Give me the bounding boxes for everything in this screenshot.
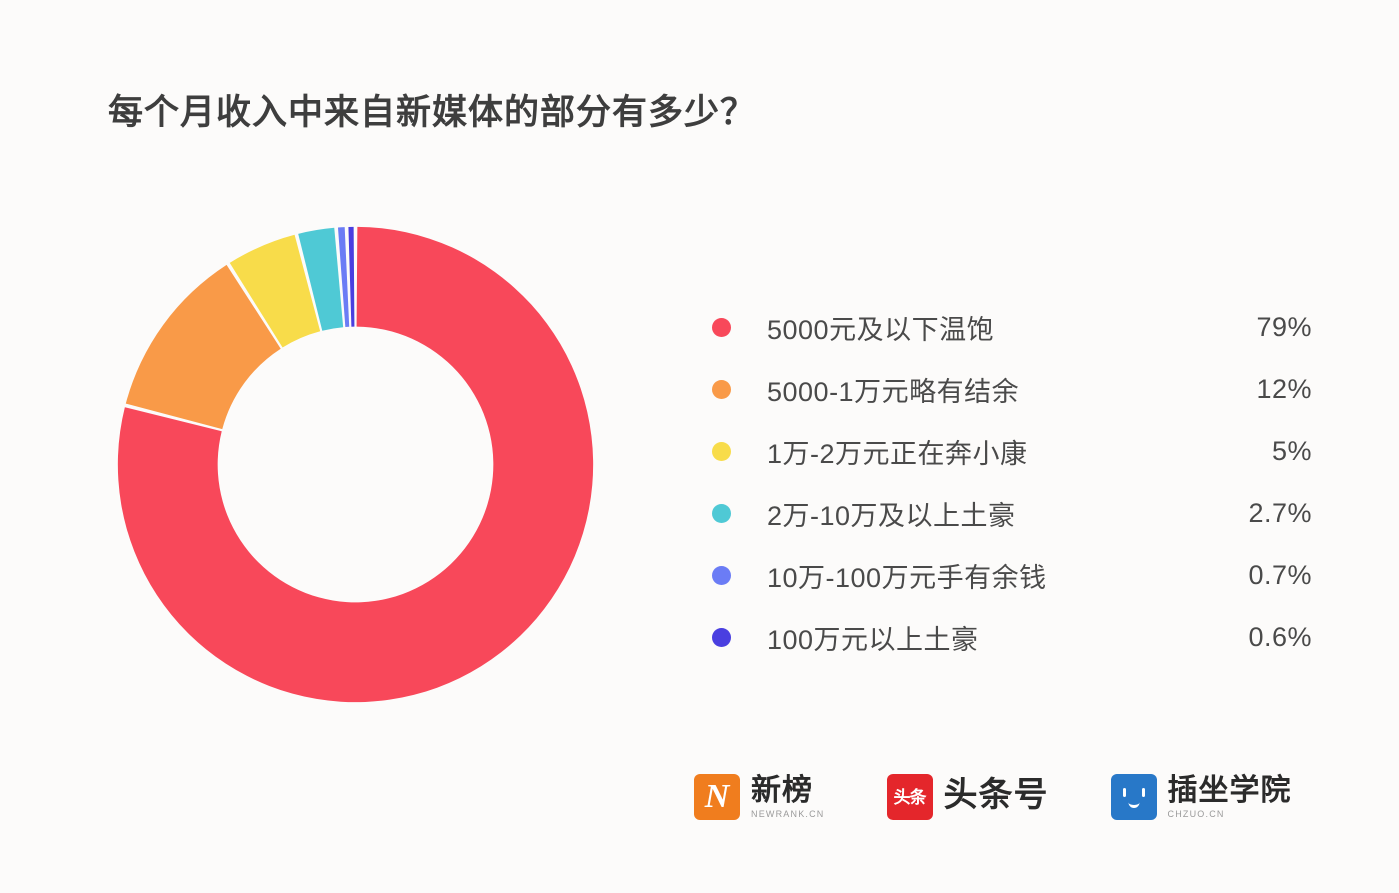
page-title: 每个月收入中来自新媒体的部分有多少？: [108, 84, 756, 135]
logo-subtitle: NEWRANK.CN: [751, 809, 825, 819]
donut-chart: [113, 222, 598, 707]
donut-slice[interactable]: [348, 227, 354, 327]
legend-item-label: 2万-10万及以上土豪: [767, 494, 1194, 533]
legend-swatch-icon: [712, 442, 731, 461]
slide-canvas: 每个月收入中来自新媒体的部分有多少？ 5000元及以下温饱 79% 5000-1…: [0, 0, 1399, 893]
toutiao-mark-icon: 头条: [887, 774, 933, 820]
legend-item-value: 12%: [1194, 374, 1312, 405]
legend-swatch-icon: [712, 628, 731, 647]
toutiaohao-logo-text: 头条号: [944, 778, 1049, 817]
legend-item[interactable]: 10万-100万元手有余钱 0.7%: [712, 544, 1312, 606]
smiley-face-icon: [1119, 786, 1149, 808]
face-eye-right: [1142, 788, 1145, 797]
newrank-mark-icon: N: [694, 774, 740, 820]
legend-item-value: 0.7%: [1194, 560, 1312, 591]
legend-item-label: 1万-2万元正在奔小康: [767, 432, 1194, 471]
legend-item-value: 79%: [1194, 312, 1312, 343]
legend-item[interactable]: 1万-2万元正在奔小康 5%: [712, 420, 1312, 482]
logo-name: 插坐学院: [1168, 775, 1292, 807]
chazuo-mark-icon: [1111, 774, 1157, 820]
chazuo-logo-text: 插坐学院 CHZUO.CN: [1168, 775, 1292, 820]
newrank-glyph: N: [705, 780, 730, 814]
logo-subtitle: CHZUO.CN: [1168, 809, 1292, 819]
logo-name: 新榜: [751, 775, 825, 807]
legend-item-value: 2.7%: [1194, 498, 1312, 529]
face-eye-left: [1123, 788, 1126, 797]
newrank-logo-text: 新榜 NEWRANK.CN: [751, 775, 825, 820]
legend-item-value: 0.6%: [1194, 622, 1312, 653]
logo-toutiaohao[interactable]: 头条 头条号: [887, 774, 1049, 820]
legend-swatch-icon: [712, 318, 731, 337]
legend-item-label: 10万-100万元手有余钱: [767, 556, 1194, 595]
legend-item-label: 5000-1万元略有结余: [767, 370, 1194, 409]
legend-item[interactable]: 5000-1万元略有结余 12%: [712, 358, 1312, 420]
legend-swatch-icon: [712, 504, 731, 523]
logo-name: 头条号: [944, 778, 1049, 814]
legend-swatch-icon: [712, 566, 731, 585]
legend-item[interactable]: 100万元以上土豪 0.6%: [712, 606, 1312, 668]
face-mouth: [1128, 799, 1139, 808]
legend-item-label: 100万元以上土豪: [767, 618, 1194, 657]
donut-chart-svg: [113, 222, 598, 707]
legend-swatch-icon: [712, 380, 731, 399]
chart-legend: 5000元及以下温饱 79% 5000-1万元略有结余 12% 1万-2万元正在…: [712, 296, 1312, 668]
legend-item[interactable]: 5000元及以下温饱 79%: [712, 296, 1312, 358]
logo-chazuo[interactable]: 插坐学院 CHZUO.CN: [1111, 774, 1292, 820]
logo-newrank[interactable]: N 新榜 NEWRANK.CN: [694, 774, 825, 820]
footer-logo-row: N 新榜 NEWRANK.CN 头条 头条号: [694, 774, 1292, 820]
legend-item[interactable]: 2万-10万及以上土豪 2.7%: [712, 482, 1312, 544]
toutiao-glyph: 头条: [894, 789, 926, 806]
donut-slice-group: [118, 227, 593, 702]
legend-item-value: 5%: [1194, 436, 1312, 467]
legend-item-label: 5000元及以下温饱: [767, 308, 1194, 347]
